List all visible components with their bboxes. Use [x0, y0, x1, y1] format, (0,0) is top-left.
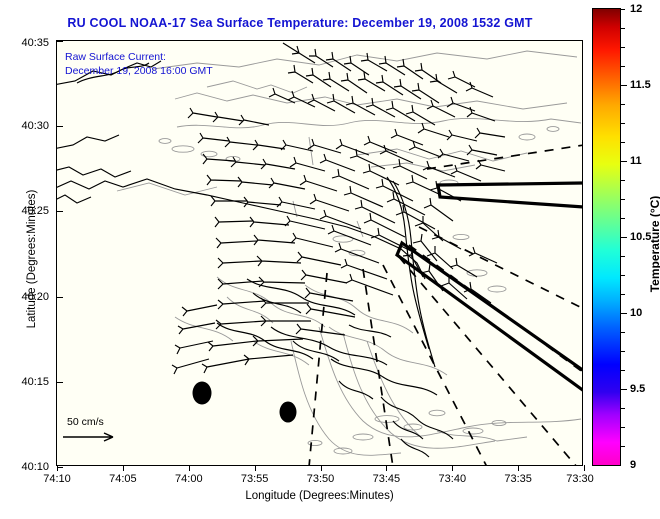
x-tick	[123, 465, 124, 471]
colorbar-tick	[620, 66, 625, 67]
colorbar-tick	[620, 389, 627, 390]
colorbar-tick	[620, 237, 627, 238]
x-tick	[321, 465, 322, 471]
x-tick	[518, 465, 519, 471]
colorbar-tick-label: 11.5	[630, 79, 651, 91]
x-tick-label: 73:30	[566, 473, 594, 485]
x-tick-label: 73:35	[504, 473, 532, 485]
colorbar-tick	[620, 104, 625, 105]
annotation-line-1: Raw Surface Current:	[65, 50, 213, 64]
annotation-block: Raw Surface Current: December 19, 2008 1…	[65, 50, 213, 78]
x-tick-label: 74:10	[43, 473, 71, 485]
colorbar-tick	[620, 123, 625, 124]
colorbar-gradient	[593, 9, 620, 465]
bathymetry-contours	[117, 51, 581, 455]
y-tick-label: 40:35	[21, 37, 49, 49]
x-tick-label: 73:40	[439, 473, 467, 485]
colorbar-tick	[620, 9, 625, 10]
radar-station-markers	[193, 382, 297, 423]
colorbar-tick	[620, 446, 625, 447]
x-tick	[57, 465, 58, 471]
x-tick-label: 74:00	[175, 473, 203, 485]
x-tick	[189, 465, 190, 471]
colorbar-tick	[620, 351, 625, 352]
map-plot-area: Raw Surface Current: December 19, 2008 1…	[57, 41, 582, 465]
x-tick-label: 73:50	[307, 473, 335, 485]
velocity-scale-bar: 50 cm/s	[61, 416, 121, 443]
colorbar-tick-label: 11	[630, 155, 642, 167]
y-tick-label: 40:10	[21, 461, 49, 473]
y-tick	[57, 297, 63, 298]
colorbar-tick	[620, 28, 625, 29]
colorbar-tick-label: 12	[630, 3, 642, 15]
colorbar-tick	[620, 275, 625, 276]
colorbar-tick	[620, 161, 627, 162]
colorbar-tick	[620, 408, 625, 409]
x-tick	[584, 465, 585, 471]
colorbar-tick	[620, 294, 625, 295]
coastline	[57, 61, 453, 457]
y-tick	[57, 382, 63, 383]
map-graphics	[57, 41, 582, 465]
colorbar-tick	[620, 313, 627, 314]
colorbar-label: Temperature (°C)	[648, 134, 660, 354]
colorbar-tick-label: 9.5	[630, 383, 645, 395]
y-tick	[57, 41, 63, 42]
x-tick	[255, 465, 256, 471]
colorbar-tick	[620, 47, 625, 48]
x-tick-label: 74:05	[109, 473, 137, 485]
x-tick	[452, 465, 453, 471]
colorbar-tick	[620, 370, 625, 371]
y-tick	[57, 211, 63, 212]
y-tick	[57, 467, 63, 468]
colorbar-tick-label: 10	[630, 307, 642, 319]
colorbar-tick-label: 9	[630, 459, 636, 471]
x-tick-label: 73:55	[241, 473, 269, 485]
scale-bar-label: 50 cm/s	[67, 416, 121, 428]
colorbar-tick	[620, 256, 625, 257]
colorbar-tick	[620, 427, 625, 428]
x-tick	[386, 465, 387, 471]
y-axis-label: Latitude (Degrees:Minutes)	[26, 139, 38, 379]
colorbar-tick	[620, 142, 625, 143]
y-tick-label: 40:30	[21, 120, 49, 132]
x-tick-label: 73:45	[373, 473, 401, 485]
colorbar: 12 11.5 11 10.5 10 9.5 9	[592, 8, 621, 466]
map-axes: Raw Surface Current: December 19, 2008 1…	[56, 40, 583, 466]
colorbar-tick	[620, 85, 627, 86]
y-tick	[57, 126, 63, 127]
colorbar-tick	[620, 332, 625, 333]
x-axis-label: Longitude (Degrees:Minutes)	[56, 490, 583, 502]
figure-title: RU COOL NOAA-17 Sea Surface Temperature:…	[0, 16, 600, 30]
colorbar-tick	[620, 180, 625, 181]
colorbar-tick	[620, 218, 625, 219]
figure-canvas: RU COOL NOAA-17 Sea Surface Temperature:…	[0, 0, 660, 519]
annotation-line-2: December 19, 2008 16:00 GMT	[65, 64, 213, 78]
colorbar-tick	[620, 199, 625, 200]
scale-bar-arrow-icon	[61, 431, 121, 443]
